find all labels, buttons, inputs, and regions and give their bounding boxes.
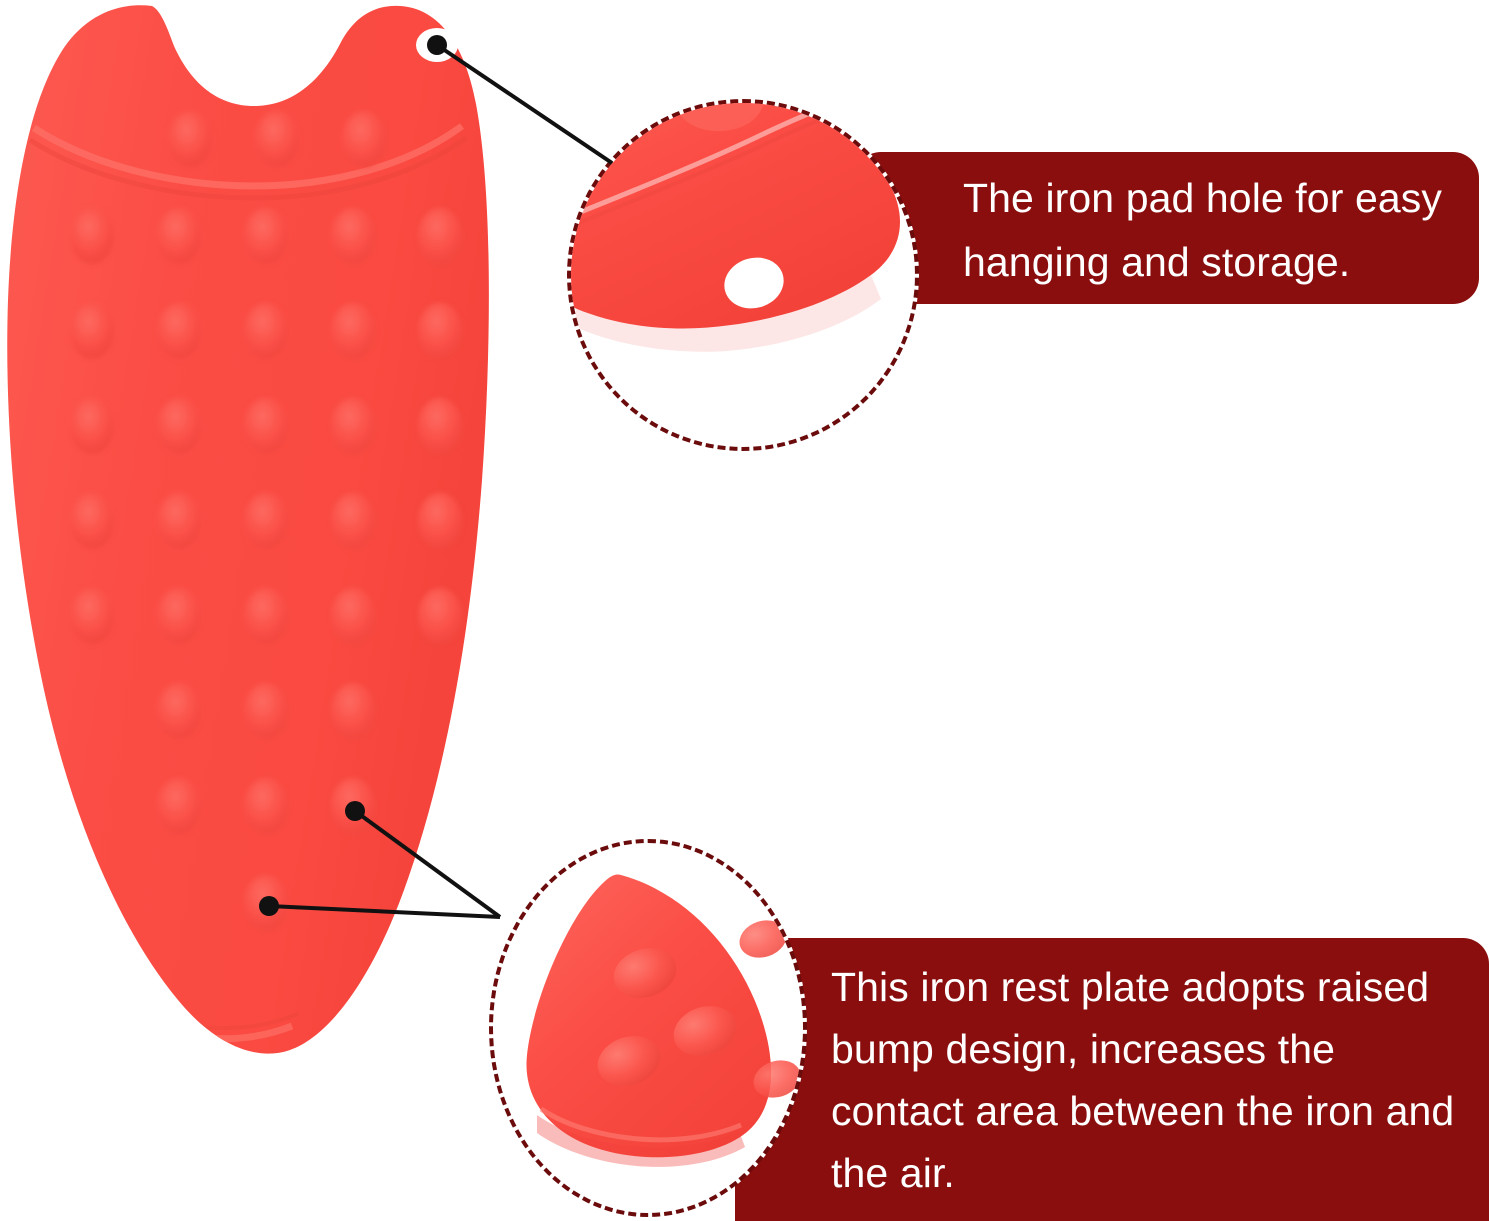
infographic-canvas: The iron pad hole for easy hanging and s… xyxy=(0,0,1489,1221)
hanging-hole xyxy=(416,28,458,62)
hanging-hole-detail-svg xyxy=(571,103,919,451)
callout-raised-bumps-text: This iron rest plate adopts raised bump … xyxy=(831,956,1461,1204)
inset-raised-bump-detail xyxy=(489,839,807,1217)
callout-hanging-hole-text: The iron pad hole for easy hanging and s… xyxy=(963,166,1449,294)
iron-pad-illustration xyxy=(0,0,540,1080)
inset-hanging-hole-detail xyxy=(567,99,919,451)
raised-bump-detail-svg xyxy=(493,843,807,1217)
iron-pad-svg xyxy=(0,0,540,1080)
callout-raised-bumps: This iron rest plate adopts raised bump … xyxy=(735,938,1489,1221)
callout-hanging-hole: The iron pad hole for easy hanging and s… xyxy=(855,152,1479,304)
